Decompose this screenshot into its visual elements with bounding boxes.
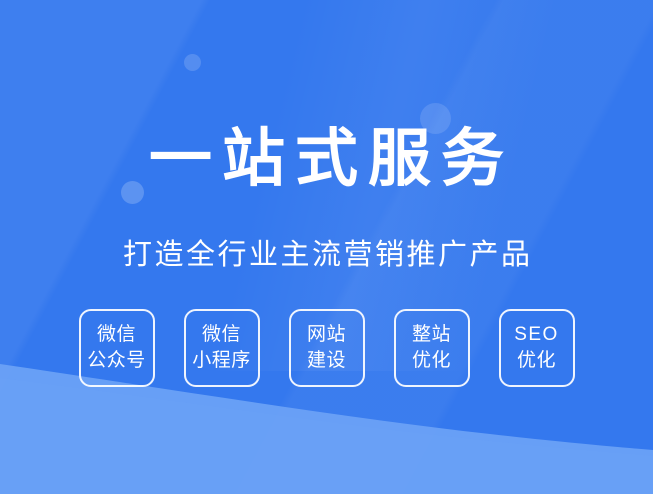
- badge-line-2: 公众号: [87, 348, 146, 374]
- badge-wechat-mini-program[interactable]: 微信 小程序: [184, 309, 260, 387]
- badge-line-2: 建设: [307, 348, 346, 374]
- badge-line-1: 整站: [412, 322, 451, 348]
- badge-line-1: 微信: [202, 322, 241, 348]
- badge-line-1: SEO: [514, 322, 559, 348]
- badge-line-1: 网站: [307, 322, 346, 348]
- badge-line-2: 小程序: [192, 348, 251, 374]
- badge-seo-optimization[interactable]: SEO 优化: [499, 309, 575, 387]
- service-badge-row: 微信 公众号 微信 小程序 网站 建设 整站 优化 SEO 优化: [0, 309, 653, 387]
- promo-banner: 一站式服务 打造全行业主流营销推广产品 微信 公众号 微信 小程序 网站 建设 …: [0, 0, 653, 494]
- badge-line-2: 优化: [412, 348, 451, 374]
- headline-title: 一站式服务: [0, 118, 653, 200]
- badge-full-site-optimization[interactable]: 整站 优化: [394, 309, 470, 387]
- badge-website-construction[interactable]: 网站 建设: [289, 309, 365, 387]
- subtitle-text: 打造全行业主流营销推广产品: [0, 235, 653, 275]
- badge-wechat-official-account[interactable]: 微信 公众号: [79, 309, 155, 387]
- badge-line-2: 优化: [517, 348, 556, 374]
- badge-line-1: 微信: [97, 322, 136, 348]
- banner-content: 一站式服务 打造全行业主流营销推广产品 微信 公众号 微信 小程序 网站 建设 …: [0, 0, 653, 494]
